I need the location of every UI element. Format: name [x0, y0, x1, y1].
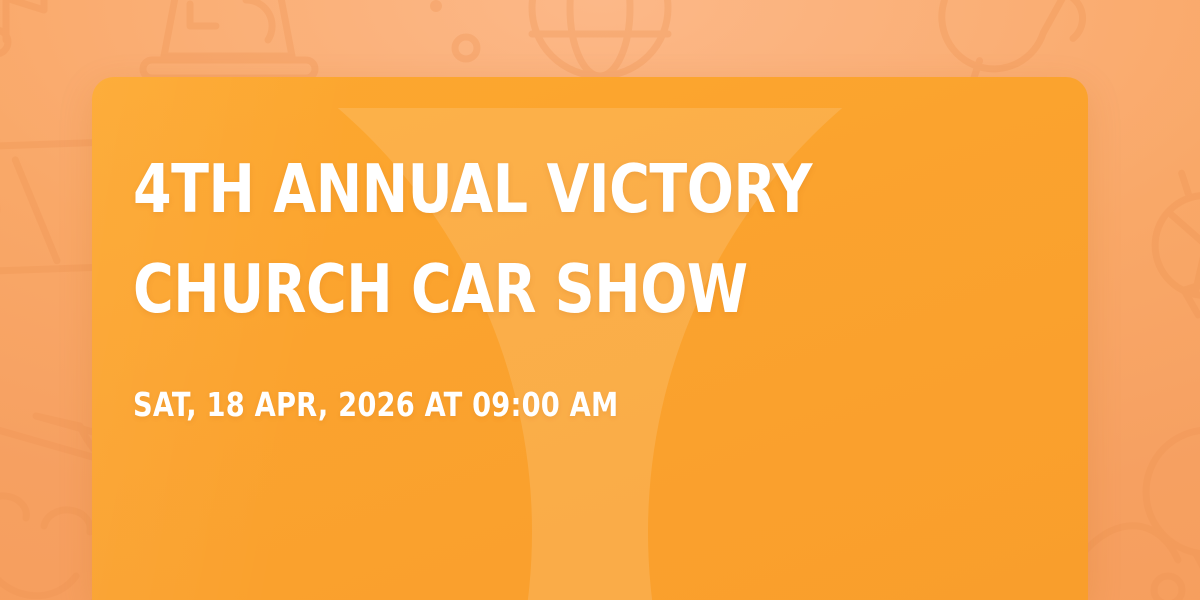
card-content: 4th Annual Victory Church Car Show Sat, … — [133, 139, 1048, 425]
confetti-dot-icon — [455, 37, 477, 59]
confetti-dot-icon — [430, 0, 442, 12]
confetti-dot-icon — [1154, 576, 1182, 600]
event-date: Sat, 18 Apr, 2026 at 09:00 AM — [133, 385, 975, 425]
laptop-icon — [143, 0, 315, 78]
event-banner-page: 4th Annual Victory Church Car Show Sat, … — [0, 0, 1200, 600]
lantern-icon — [1134, 158, 1200, 372]
music-note-icon — [0, 0, 44, 54]
event-card[interactable]: 4th Annual Victory Church Car Show Sat, … — [92, 77, 1088, 600]
balloon-icon — [1146, 430, 1200, 576]
confetti-dot-icon — [1084, 526, 1178, 560]
event-title: 4th Annual Victory Church Car Show — [133, 139, 943, 339]
